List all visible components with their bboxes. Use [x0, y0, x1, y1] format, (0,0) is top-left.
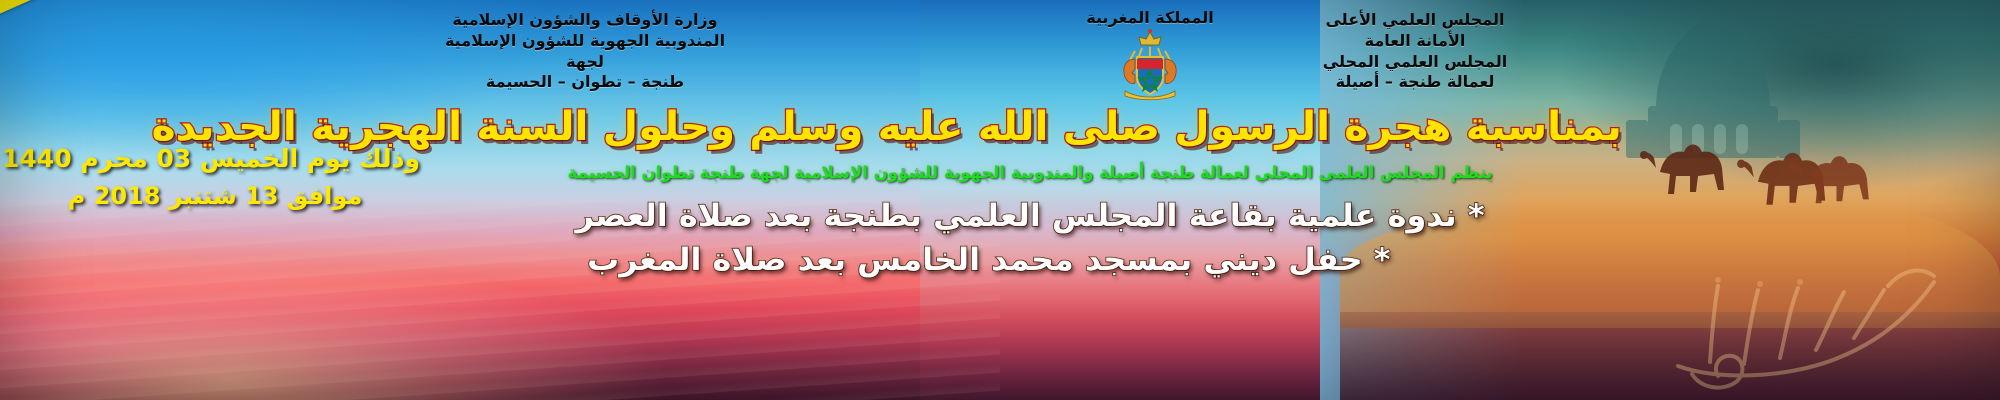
program-item-2: * حفل ديني بمسجد محمد الخامس بعد صلاة ال…	[453, 242, 1607, 278]
header-council-block: المجلس العلمي الأعلى الأمانة العامة المج…	[1240, 10, 1590, 93]
kingdom-emblem-block: المملكة المغربية	[1085, 8, 1215, 101]
organizer-line: ينظم المجلس العلمي المحلي لعمالة طنجة أص…	[400, 163, 1660, 182]
council-line-2: الأمانة العامة	[1240, 31, 1590, 52]
ministry-line-1: وزارة الأوقاف والشؤون الإسلامية	[415, 10, 755, 31]
poster-canvas: الدعوة عامة وزارة الأوقاف والشؤون الإسلا…	[0, 0, 2000, 400]
council-line-3: المجلس العلمي المحلي	[1240, 52, 1590, 73]
date-hijri: وذلك يوم الخميس 03 محرم 1440 هـ	[10, 140, 420, 178]
council-line-4: لعمالة طنجة – أصيلة	[1240, 72, 1590, 93]
ministry-line-2: المندوبية الجهوية للشؤون الإسلامية	[415, 31, 755, 52]
ministry-line-3: لجهة	[415, 52, 755, 73]
kingdom-title: المملكة المغربية	[1085, 8, 1215, 27]
event-date-block: وذلك يوم الخميس 03 محرم 1440 هـ موافق 13…	[10, 140, 420, 214]
camel-caravan-icon	[1620, 98, 1880, 208]
arabic-calligraphy-watermark	[1648, 246, 1978, 396]
program-item-1: * ندوة علمية بقاعة المجلس العلمي بطنجة ب…	[453, 198, 1607, 234]
date-gregorian: موافق 13 شتنبر 2018 م	[10, 178, 420, 214]
header-ministry-block: وزارة الأوقاف والشؤون الإسلامية المندوبي…	[415, 10, 755, 93]
council-line-1: المجلس العلمي الأعلى	[1240, 10, 1590, 31]
ministry-line-4: طنجة – تطوان – الحسيمة	[415, 72, 755, 93]
moroccan-coat-of-arms-icon	[1111, 29, 1189, 101]
main-title: بمناسبة هجرة الرسول صلى الله عليه وسلم و…	[418, 104, 1622, 150]
program-list: * ندوة علمية بقاعة المجلس العلمي بطنجة ب…	[470, 190, 1590, 286]
